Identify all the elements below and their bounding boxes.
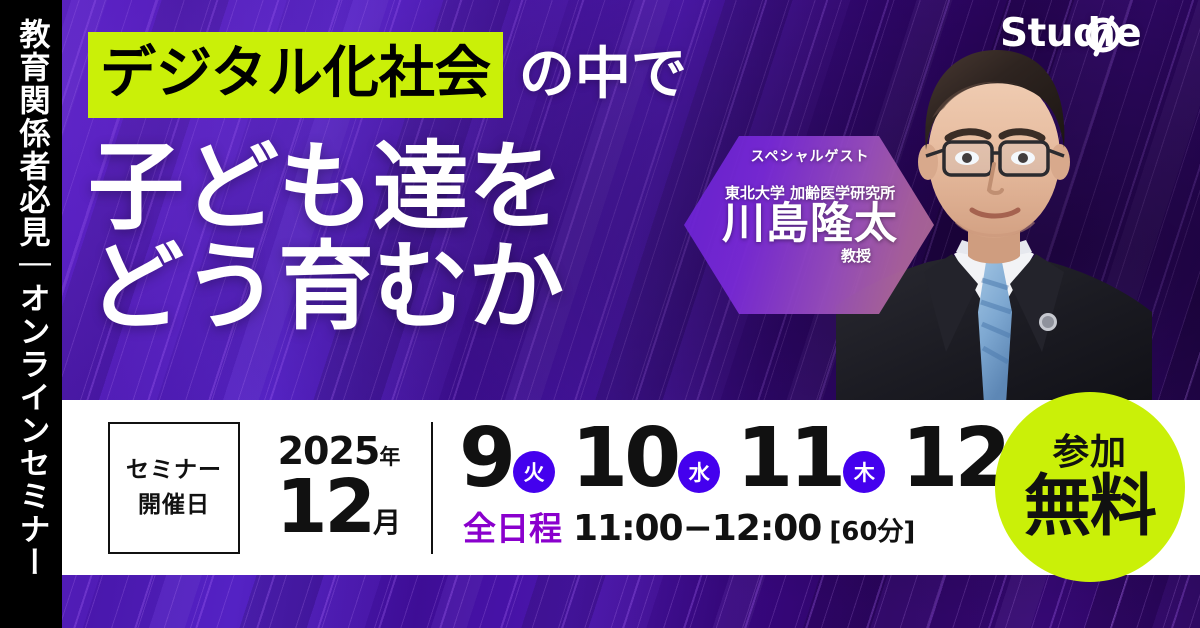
seminar-label-line1: セミナー xyxy=(126,453,222,488)
vertical-divider xyxy=(431,422,433,554)
time-label: 全日程 xyxy=(463,502,562,550)
seminar-promo-banner: スペシャルゲスト 東北大学 加齢医学研究所 川島隆太 教授 デジタル化社会 の中… xyxy=(0,0,1200,628)
date-item: 11 木 xyxy=(736,425,885,494)
headline-line-1: デジタル化社会 の中で xyxy=(88,32,687,118)
seminar-label-line2: 開催日 xyxy=(138,488,210,523)
date-number: 9 xyxy=(459,425,512,494)
date-number: 11 xyxy=(736,425,842,494)
speaker-info: スペシャルゲスト 東北大学 加齢医学研究所 川島隆太 教授 xyxy=(660,146,960,266)
side-banner-text: 教育関係者必見｜オンラインセミナー xyxy=(16,18,47,579)
free-participation-badge: 参加 無料 xyxy=(995,392,1185,582)
studyone-logo[interactable]: Stud ne xyxy=(1000,10,1178,68)
date-number: 10 xyxy=(571,425,677,494)
month-row: 12月 xyxy=(276,472,401,543)
special-guest-label: スペシャルゲスト xyxy=(660,146,960,166)
free-badge-top: 参加 xyxy=(1053,435,1127,471)
seminar-date-label-box: セミナー 開催日 xyxy=(108,422,240,554)
side-banner: 教育関係者必見｜オンラインセミナー xyxy=(0,0,62,628)
month-value: 12 xyxy=(276,464,373,550)
day-of-week-badge: 水 xyxy=(678,451,720,493)
speaker-name: 川島隆太 xyxy=(660,202,960,247)
dates-block: 9 火 10 水 11 木 12 金 全日程 11:00−12:00 xyxy=(459,425,1066,551)
headline-highlight: デジタル化社会 xyxy=(88,32,503,118)
day-of-week-badge: 火 xyxy=(513,451,555,493)
svg-text:Stud: Stud xyxy=(1000,11,1100,56)
date-item: 10 水 xyxy=(571,425,720,494)
free-badge-main: 無料 xyxy=(1024,473,1156,540)
month-suffix: 月 xyxy=(373,506,401,539)
date-item: 9 火 xyxy=(459,425,555,494)
day-of-week-badge: 木 xyxy=(843,451,885,493)
date-number: 12 xyxy=(901,425,1007,494)
headline: デジタル化社会 の中で 子ども達を どう育むか xyxy=(88,32,687,338)
headline-line-3: どう育むか xyxy=(88,238,687,338)
studyone-logo-mark: Stud ne xyxy=(1000,10,1178,58)
headline-line-2: 子ども達を xyxy=(88,138,687,238)
time-row: 全日程 11:00−12:00 [60分] xyxy=(459,502,1066,550)
time-value: 11:00−12:00 xyxy=(573,508,821,549)
dates-row: 9 火 10 水 11 木 12 金 xyxy=(459,425,1066,494)
headline-highlight-tail: の中で xyxy=(519,47,687,103)
year-suffix: 年 xyxy=(379,445,399,469)
time-duration: [60分] xyxy=(829,511,915,548)
year-month-block: 2025年 12月 xyxy=(276,432,401,543)
